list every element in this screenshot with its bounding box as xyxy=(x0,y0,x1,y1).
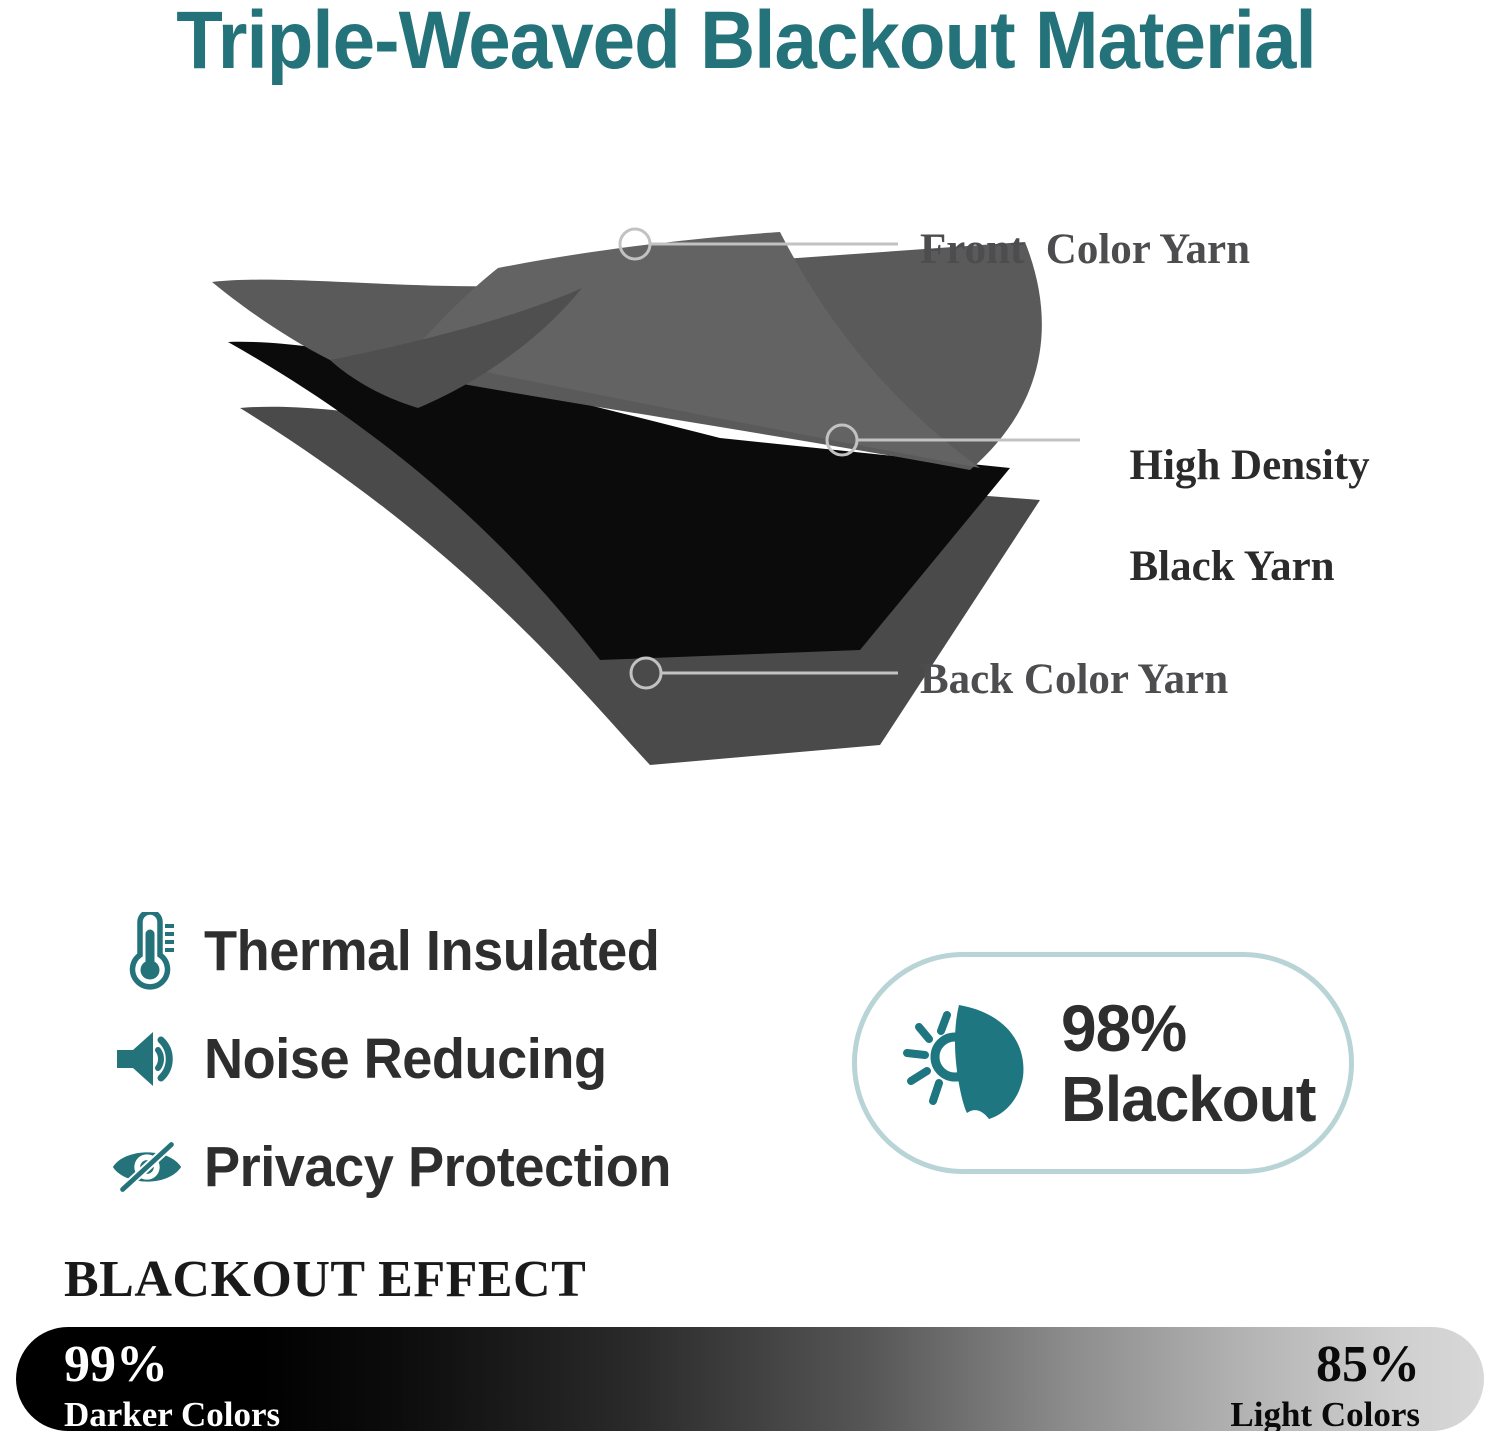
feature-list: Thermal Insulated Noise Reducing xyxy=(108,905,808,1229)
feature-item-noise-reducing: Noise Reducing xyxy=(108,1013,808,1105)
feature-item-thermal-insulated: Thermal Insulated xyxy=(108,905,808,997)
page-title: Triple-Weaved Blackout Material xyxy=(52,0,1440,86)
blackout-effect-heading: BLACKOUT EFFECT xyxy=(64,1250,586,1309)
blackout-effect-gradient-bar: 99% Darker Colors 85% Light Colors xyxy=(16,1327,1484,1431)
light-colors-caption: Light Colors xyxy=(1230,1397,1420,1431)
bar-stat-darker-colors: 99% Darker Colors xyxy=(64,1339,280,1431)
bar-stat-light-colors: 85% Light Colors xyxy=(1230,1339,1420,1431)
darker-colors-percent: 99% xyxy=(64,1339,280,1391)
speaker-icon xyxy=(108,1020,186,1098)
thermometer-icon xyxy=(108,912,186,990)
feature-label-noise-reducing: Noise Reducing xyxy=(204,1026,607,1092)
blackout-badge: 98% Blackout xyxy=(852,952,1354,1174)
sun-behind-curtain-icon xyxy=(895,988,1045,1138)
callout-middle-line1: High Density xyxy=(1130,442,1370,489)
feature-label-thermal-insulated: Thermal Insulated xyxy=(204,918,659,984)
badge-word-label: Blackout xyxy=(1061,1067,1315,1131)
feature-item-privacy-protection: Privacy Protection xyxy=(108,1121,808,1213)
callout-label-high-density-black-yarn: High Density Black Yarn xyxy=(1108,390,1370,593)
badge-text: 98% Blackout xyxy=(1061,995,1323,1131)
light-colors-percent: 85% xyxy=(1230,1339,1420,1391)
badge-percent-value: 98% xyxy=(1061,995,1315,1061)
feature-label-privacy-protection: Privacy Protection xyxy=(204,1134,671,1200)
callout-label-front-color-yarn: Front Color Yarn xyxy=(920,225,1250,276)
darker-colors-caption: Darker Colors xyxy=(64,1397,280,1431)
callout-middle-line2: Black Yarn xyxy=(1130,543,1335,590)
callout-label-back-color-yarn: Back Color Yarn xyxy=(920,655,1228,706)
eye-slash-icon xyxy=(108,1128,186,1206)
